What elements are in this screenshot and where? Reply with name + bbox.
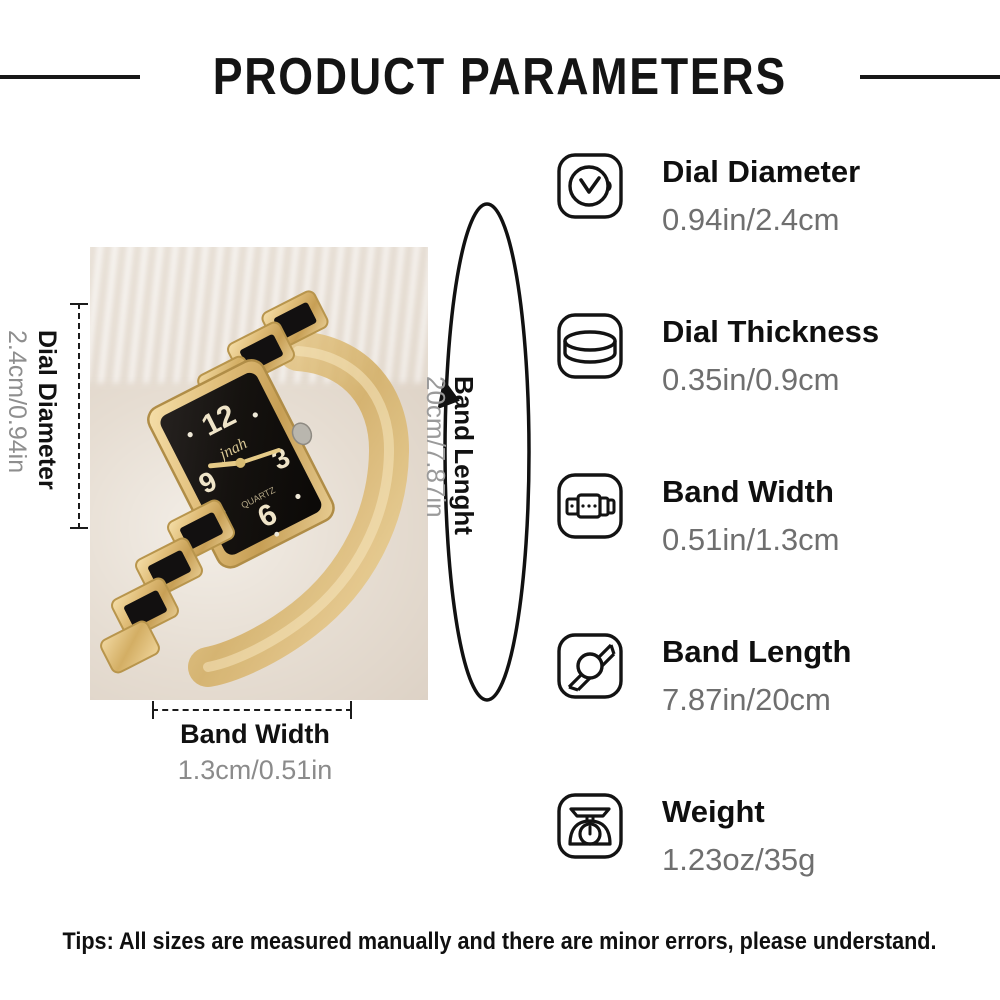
spec-label-dial-thickness: Dial Thickness [662,310,879,354]
measure-dashed-line-h [152,709,352,711]
watch-illustration: 12 9 3 6 jnah QUARTZ [90,247,428,700]
band-width-annotation: Band Width 1.3cm/0.51in [100,716,410,788]
spec-row-dial-thickness: Dial Thickness 0.35in/0.9cm [556,308,986,468]
spec-row-dial-diameter: Dial Diameter 0.94in/2.4cm [556,148,986,308]
spec-row-weight: Weight 1.23oz/35g [556,788,986,948]
spec-value-weight: 1.23oz/35g [662,834,815,886]
band-length-annotation-value-wrap: 20cm/7.87in [420,376,452,518]
page-title: PRODUCT PARAMETERS [213,47,787,107]
product-photo-image: 12 9 3 6 jnah QUARTZ [90,247,428,700]
spec-label-band-length: Band Length [662,630,851,674]
spec-value-band-width: 0.51in/1.3cm [662,514,840,566]
watch-dial-icon [556,152,624,220]
scale-icon [556,792,624,860]
spec-row-band-length: Band Length 7.87in/20cm [556,628,986,788]
spec-list: Dial Diameter 0.94in/2.4cm Dial Thicknes… [556,148,986,948]
spec-value-dial-thickness: 0.35in/0.9cm [662,354,879,406]
dial-diameter-annotation-value-wrap: 2.4cm/0.94in [2,330,32,473]
spec-value-dial-diameter: 0.94in/2.4cm [662,194,860,246]
disc-thickness-icon [556,312,624,380]
band-length-annotation-value: 20cm/7.87in [420,376,452,518]
measure-dashed-line [78,303,80,529]
spec-row-band-width: Band Width 0.51in/1.3cm [556,468,986,628]
band-width-measure-line [152,709,352,711]
band-length-annotation: Band Lenght 20cm/7.87in [452,376,453,377]
title-rule-left [0,75,140,79]
spec-text-band-width: Band Width 0.51in/1.3cm [662,468,840,566]
dial-diameter-annotation-value: 2.4cm/0.94in [3,330,31,473]
page-title-bar: PRODUCT PARAMETERS [0,42,1000,112]
spec-label-dial-diameter: Dial Diameter [662,150,860,194]
spec-text-weight: Weight 1.23oz/35g [662,788,815,886]
band-width-annotation-value: 1.3cm/0.51in [100,752,410,788]
dial-diameter-measure-line [78,303,80,529]
spec-text-dial-thickness: Dial Thickness 0.35in/0.9cm [662,308,879,406]
spec-label-band-width: Band Width [662,470,840,514]
dial-diameter-annotation-label: Dial Diameter [33,330,61,490]
footer-tips-text: Tips: All sizes are measured manually an… [63,928,937,956]
measure-cap-bottom [70,527,88,529]
band-length-annotation-title: Band Lenght [448,376,480,535]
measure-cap-top [70,303,88,305]
spec-value-band-length: 7.87in/20cm [662,674,851,726]
dial-diameter-annotation: Dial Diameter 2.4cm/0.94in [62,330,63,331]
spec-label-weight: Weight [662,790,815,834]
product-photo: 12 9 3 6 jnah QUARTZ [90,247,428,700]
band-length-icon [556,632,624,700]
band-width-annotation-label: Band Width [100,716,410,752]
spec-text-band-length: Band Length 7.87in/20cm [662,628,851,726]
footer: Tips: All sizes are measured manually an… [0,928,1000,956]
dial-diameter-annotation-title: Dial Diameter [32,330,62,490]
band-length-annotation-label: Band Lenght [448,376,480,535]
spec-text-dial-diameter: Dial Diameter 0.94in/2.4cm [662,148,860,246]
band-width-icon [556,472,624,540]
title-rule-right [860,75,1000,79]
